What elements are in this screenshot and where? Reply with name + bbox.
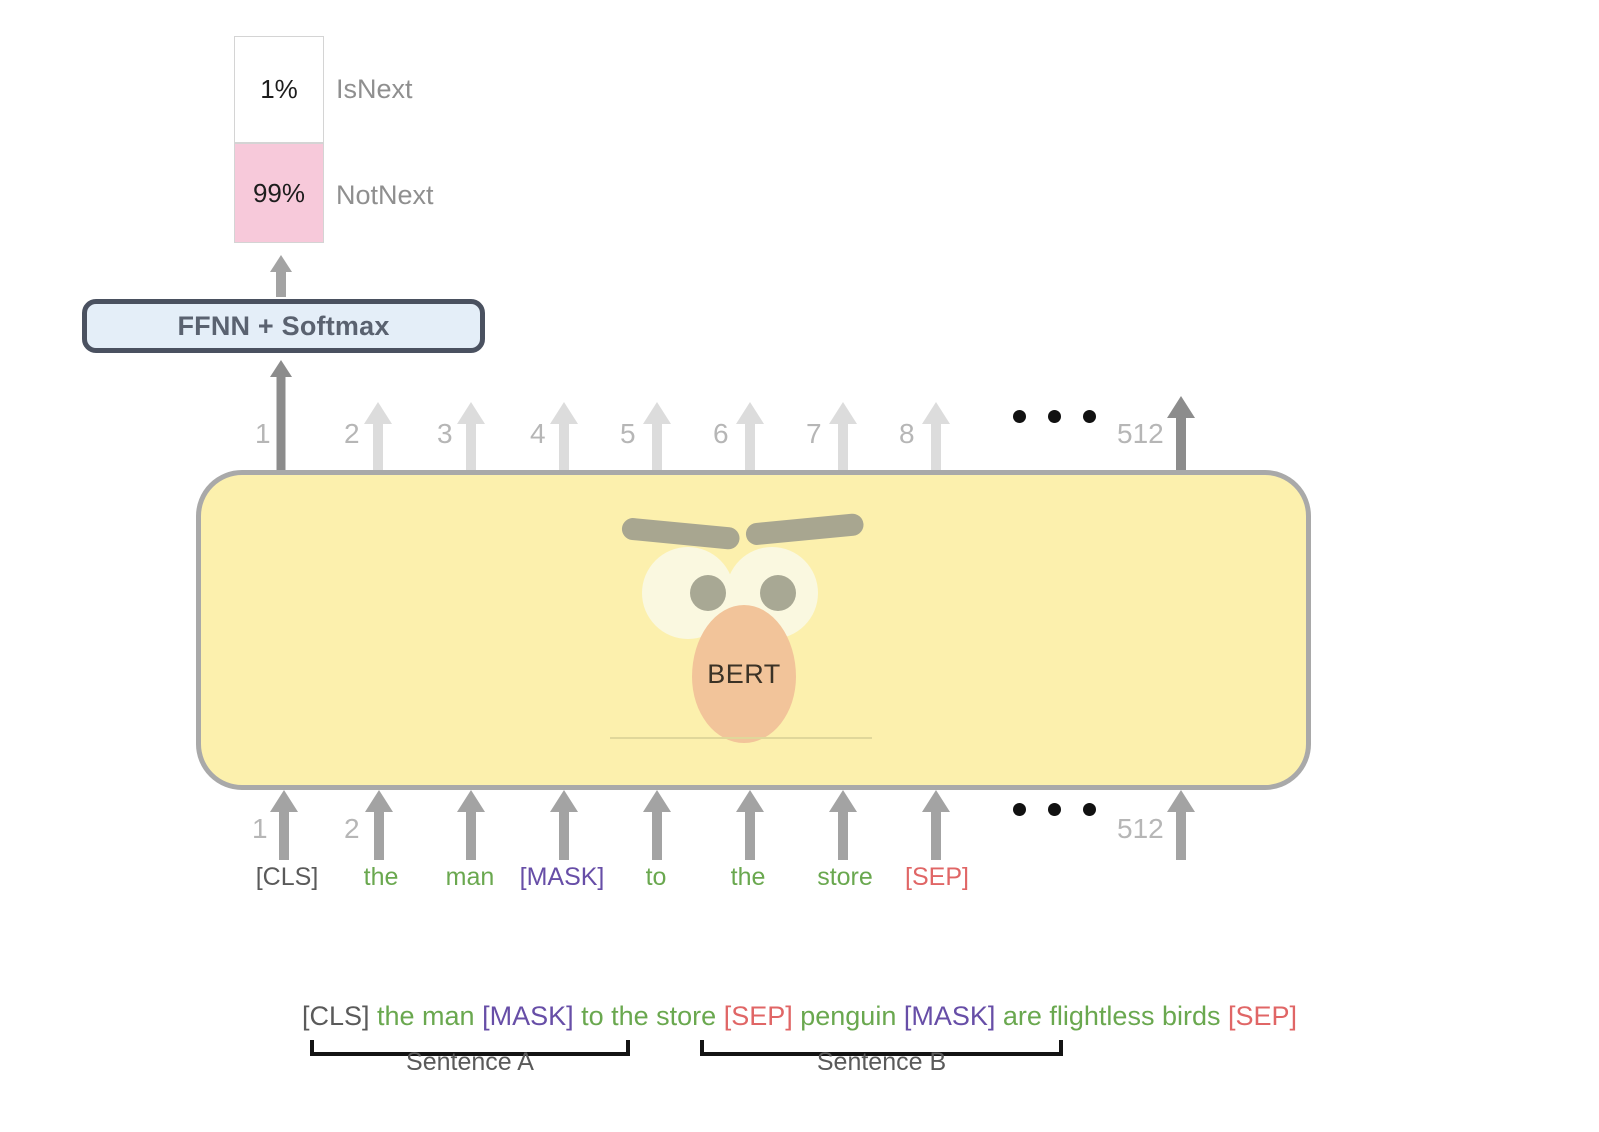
arrow-output-position-8	[920, 402, 952, 472]
bert-eyebrow-right	[745, 513, 865, 546]
arrow-input-position-2	[363, 790, 395, 860]
segment-label-sentence-a: Sentence A	[310, 1048, 630, 1077]
token-man: man	[446, 863, 495, 892]
arrow-output-position-4	[548, 402, 580, 472]
output-ellipsis-icon	[1013, 410, 1096, 423]
nsp-probability-bar: 1% 99%	[234, 36, 324, 243]
bert-pupil-left	[690, 575, 726, 611]
output-index-512: 512	[1117, 418, 1164, 450]
sentence-part-sep-b: [SEP]	[1228, 1001, 1297, 1031]
arrow-input-position-4	[548, 790, 580, 860]
sentence-part-the-man: the man	[377, 1001, 482, 1031]
input-index-2: 2	[344, 813, 360, 845]
arrow-input-position-3	[455, 790, 487, 860]
output-index-4: 4	[530, 418, 546, 450]
arrow-output-position-5	[641, 402, 673, 472]
bert-nose: BERT	[692, 605, 796, 743]
token-the-1: the	[364, 863, 399, 892]
arrow-input-position-5	[641, 790, 673, 860]
arrow-input-position-6	[734, 790, 766, 860]
output-index-5: 5	[620, 418, 636, 450]
bert-eyebrow-left	[621, 517, 741, 550]
arrow-input-position-8	[920, 790, 952, 860]
arrow-input-position-7	[827, 790, 859, 860]
arrow-output-position-2	[362, 402, 394, 472]
sentence-part-mask-a: [MASK]	[482, 1001, 574, 1031]
input-index-512: 512	[1117, 813, 1164, 845]
token-cls: [CLS]	[256, 863, 319, 892]
arrow-output-position-3	[455, 402, 487, 472]
arrow-output-position-7	[827, 402, 859, 472]
arrow-output-position-512	[1165, 396, 1197, 472]
bert-mouth-line	[610, 737, 872, 739]
bert-name-label: BERT	[707, 659, 781, 690]
ffnn-softmax-box[interactable]: FFNN + Softmax	[82, 299, 485, 353]
token-mask: [MASK]	[520, 863, 605, 892]
sentence-part-cls: [CLS]	[302, 1001, 377, 1031]
input-sentence-text: [CLS] the man [MASK] to the store [SEP] …	[0, 1001, 1599, 1032]
arrow-output-position-6	[734, 402, 766, 472]
sentence-part-to-the-store: to the store	[574, 1001, 724, 1031]
input-index-1: 1	[252, 813, 268, 845]
arrow-input-position-1	[268, 790, 300, 860]
output-index-2: 2	[344, 418, 360, 450]
diagram-canvas: 1% 99% IsNext NotNext FFNN + Softmax	[0, 0, 1599, 1132]
arrow-ffnn-to-probabilities	[265, 255, 297, 297]
bert-mascot-face-icon: BERT	[620, 505, 870, 755]
sentence-part-sep-a: [SEP]	[724, 1001, 793, 1031]
input-ellipsis-icon	[1013, 803, 1096, 816]
output-index-6: 6	[713, 418, 729, 450]
token-sep: [SEP]	[905, 863, 969, 892]
output-index-1: 1	[255, 418, 271, 450]
output-index-7: 7	[806, 418, 822, 450]
probability-cell-notnext: 99%	[234, 143, 324, 243]
probability-value-isnext: 1%	[260, 74, 298, 105]
token-store: store	[817, 863, 873, 892]
output-index-3: 3	[437, 418, 453, 450]
probability-value-notnext: 99%	[253, 178, 305, 209]
token-to: to	[646, 863, 667, 892]
segment-label-sentence-b: Sentence B	[700, 1048, 1063, 1077]
ffnn-softmax-label: FFNN + Softmax	[177, 311, 389, 342]
output-index-8: 8	[899, 418, 915, 450]
sentence-part-penguin: penguin	[793, 1001, 904, 1031]
probability-label-notnext: NotNext	[336, 180, 434, 211]
sentence-part-mask-b: [MASK]	[904, 1001, 996, 1031]
probability-cell-isnext: 1%	[234, 36, 324, 143]
token-the-2: the	[731, 863, 766, 892]
probability-label-isnext: IsNext	[336, 74, 413, 105]
arrow-input-position-512	[1165, 790, 1197, 860]
sentence-part-flightless-birds: are flightless birds	[995, 1001, 1228, 1031]
bert-pupil-right	[760, 575, 796, 611]
arrow-position-1-to-ffnn	[265, 360, 297, 472]
